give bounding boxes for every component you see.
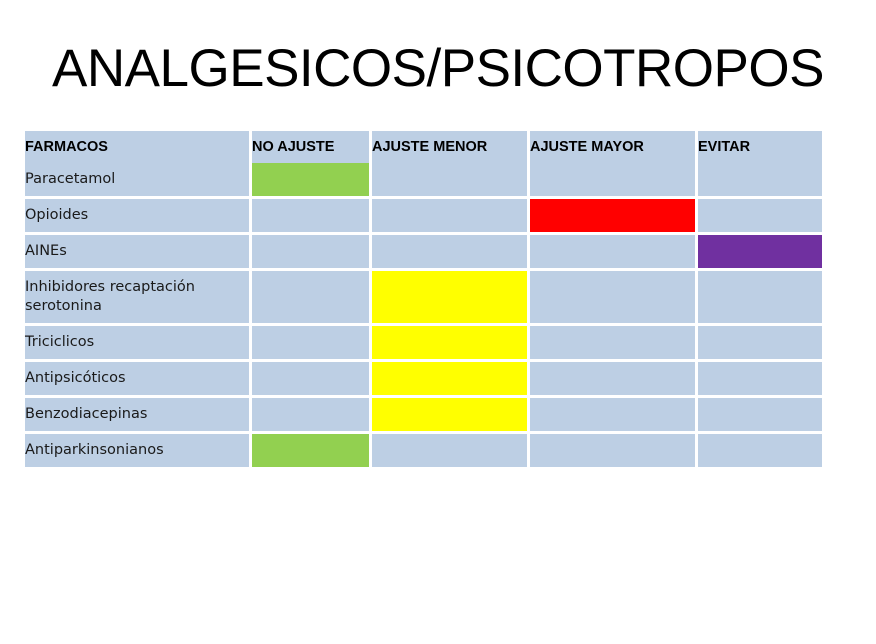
table-header-row: FARMACOS NO AJUSTE AJUSTE MENOR AJUSTE M… — [25, 131, 822, 163]
table-header: FARMACOS NO AJUSTE AJUSTE MENOR AJUSTE M… — [25, 131, 822, 163]
empty-cell-ajuste_mayor — [530, 434, 698, 467]
empty-cell-ajuste_menor — [372, 199, 530, 235]
mark-cell-ajuste_menor — [372, 398, 530, 434]
empty-cell-ajuste_menor — [372, 163, 530, 199]
slide-canvas: ANALGESICOS/PSICOTROPOS FARMACOS NO AJUS… — [0, 0, 876, 644]
column-header-ajuste-mayor: AJUSTE MAYOR — [530, 131, 698, 163]
mark-cell-ajuste_mayor — [530, 199, 698, 235]
empty-cell-no_ajuste — [252, 199, 372, 235]
empty-cell-ajuste_mayor — [530, 163, 698, 199]
empty-cell-no_ajuste — [252, 398, 372, 434]
empty-cell-ajuste_mayor — [530, 271, 698, 326]
column-header-evitar: EVITAR — [698, 131, 822, 163]
drug-name-cell: Opioides — [25, 199, 252, 235]
table-row: AINEs — [25, 235, 822, 271]
empty-cell-no_ajuste — [252, 235, 372, 271]
empty-cell-ajuste_menor — [372, 235, 530, 271]
drug-name-cell: Antipsicóticos — [25, 362, 252, 398]
drug-name-cell: Paracetamol — [25, 163, 252, 199]
empty-cell-no_ajuste — [252, 326, 372, 362]
page-title: ANALGESICOS/PSICOTROPOS — [0, 38, 876, 100]
table-row: Inhibidores recaptación serotonina — [25, 271, 822, 326]
column-header-no-ajuste: NO AJUSTE — [252, 131, 372, 163]
drug-name-cell: Antiparkinsonianos — [25, 434, 252, 467]
empty-cell-no_ajuste — [252, 271, 372, 326]
table-body: ParacetamolOpioidesAINEsInhibidores reca… — [25, 163, 822, 467]
empty-cell-no_ajuste — [252, 362, 372, 398]
column-header-farmacos: FARMACOS — [25, 131, 252, 163]
dose-adjustment-table: FARMACOS NO AJUSTE AJUSTE MENOR AJUSTE M… — [25, 131, 822, 467]
empty-cell-evitar — [698, 398, 822, 434]
mark-cell-evitar — [698, 235, 822, 271]
empty-cell-evitar — [698, 199, 822, 235]
mark-cell-ajuste_menor — [372, 362, 530, 398]
table-row: Benzodiacepinas — [25, 398, 822, 434]
drug-name-cell: Inhibidores recaptación serotonina — [25, 271, 252, 326]
column-header-ajuste-menor: AJUSTE MENOR — [372, 131, 530, 163]
drug-name-cell: Triciclicos — [25, 326, 252, 362]
empty-cell-ajuste_mayor — [530, 362, 698, 398]
empty-cell-evitar — [698, 326, 822, 362]
table-row: Triciclicos — [25, 326, 822, 362]
table-row: Antipsicóticos — [25, 362, 822, 398]
mark-cell-no_ajuste — [252, 163, 372, 199]
dose-adjustment-table-container: FARMACOS NO AJUSTE AJUSTE MENOR AJUSTE M… — [25, 131, 822, 467]
table-row: Paracetamol — [25, 163, 822, 199]
drug-name-cell: Benzodiacepinas — [25, 398, 252, 434]
empty-cell-evitar — [698, 163, 822, 199]
empty-cell-ajuste_mayor — [530, 326, 698, 362]
drug-name-cell: AINEs — [25, 235, 252, 271]
empty-cell-evitar — [698, 271, 822, 326]
table-row: Opioides — [25, 199, 822, 235]
empty-cell-ajuste_mayor — [530, 235, 698, 271]
empty-cell-evitar — [698, 362, 822, 398]
empty-cell-ajuste_menor — [372, 434, 530, 467]
empty-cell-ajuste_mayor — [530, 398, 698, 434]
empty-cell-evitar — [698, 434, 822, 467]
table-row: Antiparkinsonianos — [25, 434, 822, 467]
mark-cell-ajuste_menor — [372, 326, 530, 362]
mark-cell-ajuste_menor — [372, 271, 530, 326]
mark-cell-no_ajuste — [252, 434, 372, 467]
